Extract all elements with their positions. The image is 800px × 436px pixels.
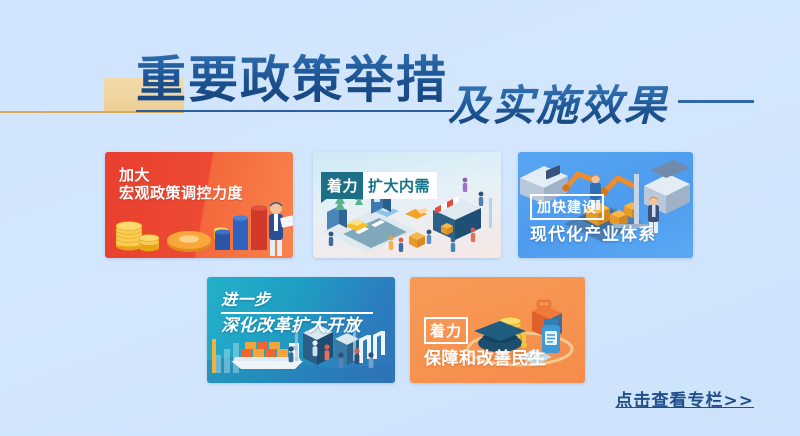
card-reform-caption: 进一步 深化改革扩大开放: [221, 290, 373, 336]
card-reform-opening[interactable]: 进一步 深化改革扩大开放: [207, 277, 395, 383]
card-livelihood-line2: 保障和改善民生: [424, 349, 547, 370]
card-demand-line1: 着力: [321, 172, 363, 199]
card-macro-line1: 加大: [119, 166, 243, 184]
card-reform-line1: 进一步: [221, 290, 373, 310]
title-underline: [136, 110, 454, 112]
card-expand-demand[interactable]: 着力 扩大内需: [313, 152, 501, 258]
page-title-sub: 及实施效果: [448, 82, 668, 130]
page-title-main: 重要政策举措: [136, 52, 448, 108]
poster-root: 重要政策举措 及实施效果: [0, 0, 800, 436]
view-column-link[interactable]: 点击查看专栏>>: [616, 386, 755, 411]
card-macro-policy[interactable]: 加大 宏观政策调控力度: [105, 152, 293, 258]
card-demand-line2: 扩大内需: [363, 172, 437, 199]
card-peoples-livelihood[interactable]: 着力 保障和改善民生: [410, 277, 585, 383]
title-area: 重要政策举措 及实施效果: [0, 30, 800, 130]
card-modern-industry[interactable]: 加快建设 现代化产业体系: [518, 152, 693, 258]
card-macro-line2: 宏观政策调控力度: [119, 184, 243, 202]
card-livelihood-caption: 着力 保障和改善民生: [424, 317, 547, 370]
card-reform-line2: 深化改革扩大开放: [221, 316, 373, 337]
illustration-city-commerce: [313, 152, 501, 258]
blue-accent-rule: [678, 100, 754, 103]
card-reform-divider: [221, 312, 373, 314]
card-macro-caption: 加大 宏观政策调控力度: [119, 166, 243, 203]
card-industry-caption: 加快建设 现代化产业体系: [530, 194, 656, 246]
card-demand-caption: 着力 扩大内需: [321, 172, 437, 199]
card-industry-line2: 现代化产业体系: [530, 225, 656, 246]
card-industry-line1: 加快建设: [530, 194, 604, 220]
card-livelihood-line1: 着力: [424, 317, 468, 344]
